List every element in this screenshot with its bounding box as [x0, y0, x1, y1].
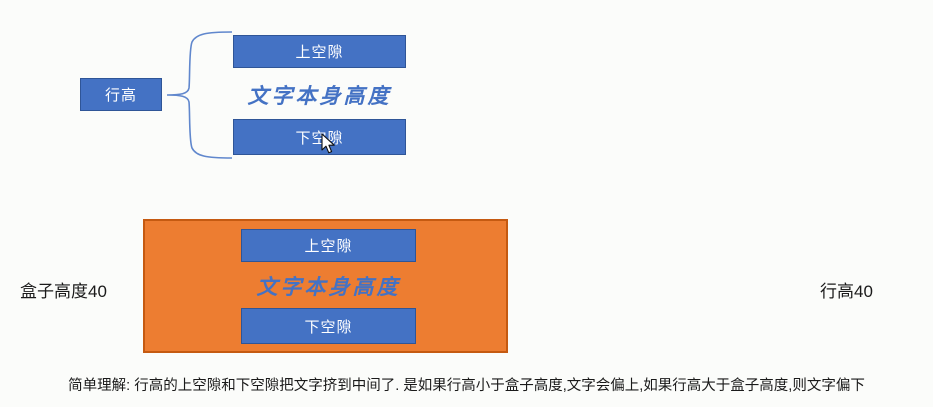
top-diagram-upper-gap-box: 上空隙: [233, 35, 406, 68]
bottom-diagram-upper-gap-box: 上空隙: [241, 229, 416, 262]
box-height-annotation: 盒子高度40: [20, 277, 107, 302]
top-diagram-text-height-label: 文字本身高度: [233, 80, 406, 110]
top-diagram-lower-gap-box: 下空隙: [233, 119, 406, 155]
line-height-source-label: 行高: [105, 84, 137, 105]
bottom-diagram-text-height-label: 文字本身高度: [241, 271, 416, 301]
bottom-diagram-upper-gap-label: 上空隙: [304, 235, 352, 256]
explanation-caption: 简单理解: 行高的上空隙和下空隙把文字挤到中间了. 是如果行高小于盒子高度,文字…: [0, 374, 933, 395]
line-height-annotation: 行高40: [820, 277, 873, 302]
line-height-source-box: 行高: [80, 78, 162, 111]
top-diagram-lower-gap-label: 下空隙: [295, 127, 343, 148]
curly-brace-icon: [166, 28, 232, 162]
bottom-diagram-lower-gap-label: 下空隙: [304, 316, 352, 337]
top-diagram-upper-gap-label: 上空隙: [295, 41, 343, 62]
bottom-diagram-lower-gap-box: 下空隙: [241, 308, 416, 344]
